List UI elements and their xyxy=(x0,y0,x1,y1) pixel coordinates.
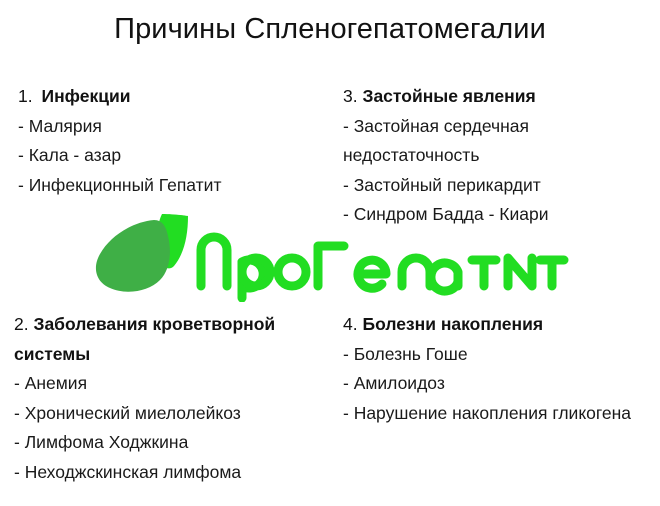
section-3-title: Застойные явления xyxy=(362,86,535,106)
section-4-number: 4. xyxy=(343,314,358,334)
section-3-heading: 3. Застойные явления xyxy=(343,82,648,112)
progepatity-logo xyxy=(92,210,572,302)
slide-canvas: Причины Спленогепатомегалии 1. Инфекции … xyxy=(0,0,660,506)
section-2-title: Заболевания кроветворной системы xyxy=(14,314,275,364)
list-item: - Нарушение накопления гликогена xyxy=(343,399,643,429)
section-infections: 1. Инфекции - Малярия - Кала - азар - Ин… xyxy=(18,82,328,200)
section-1-number: 1. xyxy=(18,86,33,106)
list-item: - Малярия xyxy=(18,112,328,142)
section-2-heading: 2. Заболевания кроветворной системы xyxy=(14,310,336,369)
section-4-heading: 4. Болезни накопления xyxy=(343,310,643,340)
section-storage-diseases: 4. Болезни накопления - Болезнь Гоше - А… xyxy=(343,310,643,428)
page-title: Причины Спленогепатомегалии xyxy=(0,12,660,46)
list-item: - Кала - азар xyxy=(18,141,328,171)
section-3-number: 3. xyxy=(343,86,358,106)
list-item: - Инфекционный Гепатит xyxy=(18,171,328,201)
liver-leaf-icon-lobe xyxy=(96,220,170,292)
list-item: - Лимфома Ходжкина xyxy=(14,428,336,458)
section-1-heading: 1. Инфекции xyxy=(18,82,328,112)
section-hematopoietic: 2. Заболевания кроветворной системы - Ан… xyxy=(14,310,336,487)
list-item: - Амилоидоз xyxy=(343,369,643,399)
list-item: - Болезнь Гоше xyxy=(343,340,643,370)
list-item: - Анемия xyxy=(14,369,336,399)
logo-svg xyxy=(92,210,572,302)
section-2-number: 2. xyxy=(14,314,29,334)
list-item: - Хронический миелолейкоз xyxy=(14,399,336,429)
list-item: - Застойная сердечная недостаточность xyxy=(343,112,648,171)
list-item: - Неходжскинская лимфома xyxy=(14,458,336,488)
logo-wordmark xyxy=(201,237,564,298)
section-1-title: Инфекции xyxy=(41,86,130,106)
list-item: - Застойный перикардит xyxy=(343,171,648,201)
section-4-title: Болезни накопления xyxy=(362,314,543,334)
section-congestion: 3. Застойные явления - Застойная сердечн… xyxy=(343,82,648,230)
